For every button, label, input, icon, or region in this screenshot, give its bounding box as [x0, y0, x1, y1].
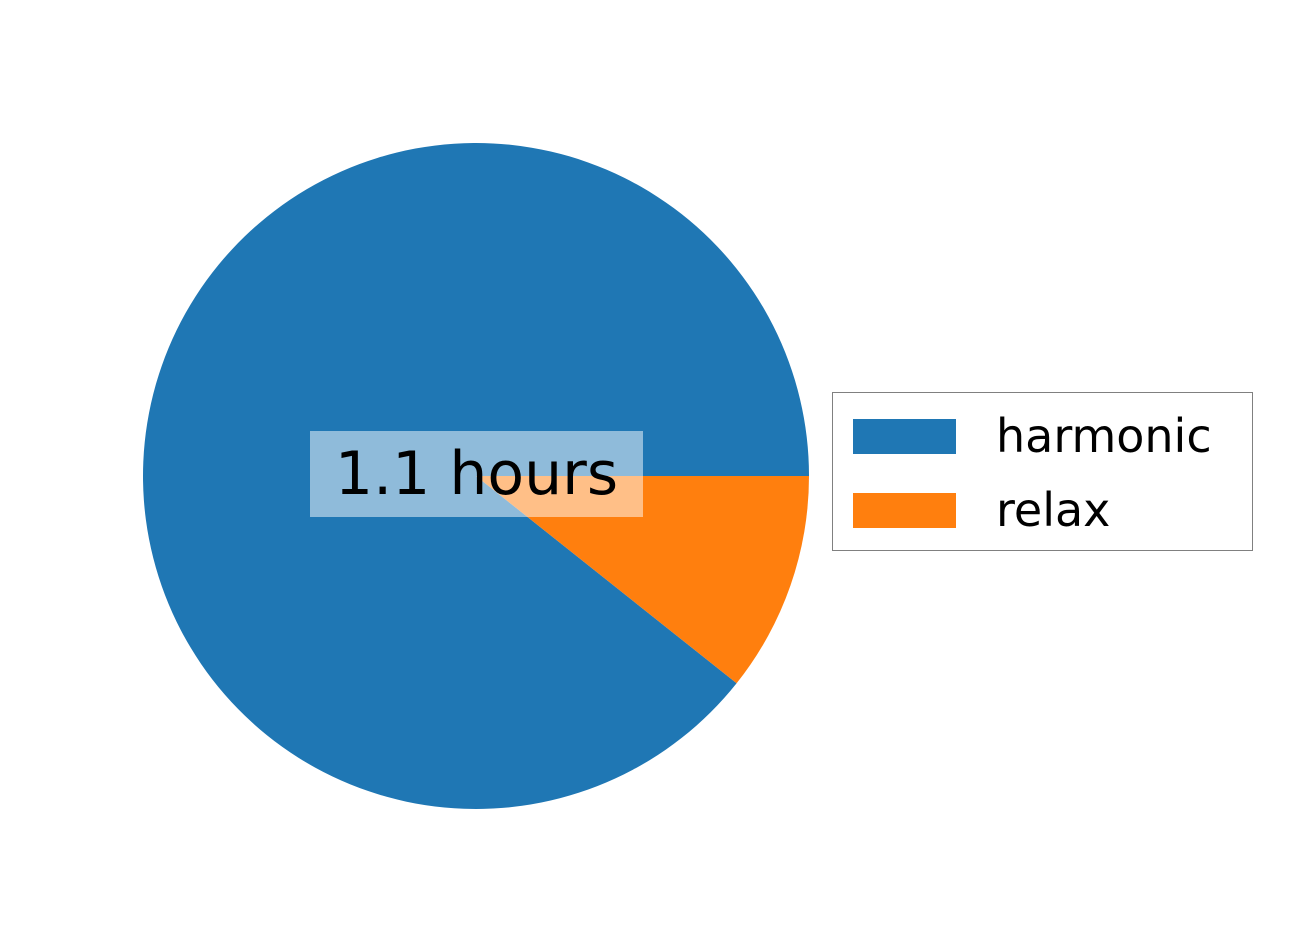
legend-entry-harmonic[interactable]: harmonic	[833, 406, 1252, 480]
legend-swatch-harmonic	[853, 419, 956, 454]
figure-canvas: 1.1 hours harmonic relax	[0, 0, 1307, 951]
legend-entry-relax[interactable]: relax	[833, 480, 1252, 554]
legend-label-relax: relax	[996, 480, 1110, 541]
legend-swatch-relax	[853, 493, 956, 528]
chart-legend: harmonic relax	[832, 392, 1253, 551]
pie-center-value-label: 1.1 hours	[310, 431, 643, 517]
legend-label-harmonic: harmonic	[996, 406, 1212, 467]
